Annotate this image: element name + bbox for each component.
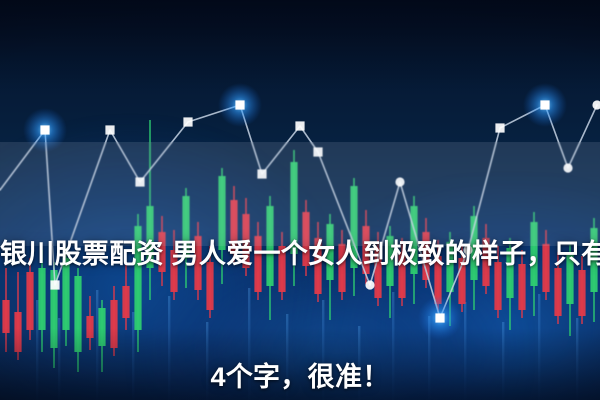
trend-marker	[540, 100, 549, 109]
trend-marker	[40, 125, 49, 134]
trend-marker	[105, 125, 114, 134]
trend-marker	[495, 123, 504, 132]
page-title: 银川股票配资 男人爱一个女人到极致的样子，只有 4个字，很准！	[0, 152, 600, 400]
headline-line-1: 银川股票配资 男人爱一个女人到极致的样子，只有	[0, 234, 600, 275]
trend-marker	[592, 100, 600, 109]
headline-line-2: 4个字，很准！	[0, 357, 600, 398]
banner-stage: 银川股票配资 男人爱一个女人到极致的样子，只有 4个字，很准！	[0, 0, 600, 400]
trend-marker	[295, 121, 304, 130]
trend-marker	[183, 117, 192, 126]
trend-marker	[235, 100, 244, 109]
